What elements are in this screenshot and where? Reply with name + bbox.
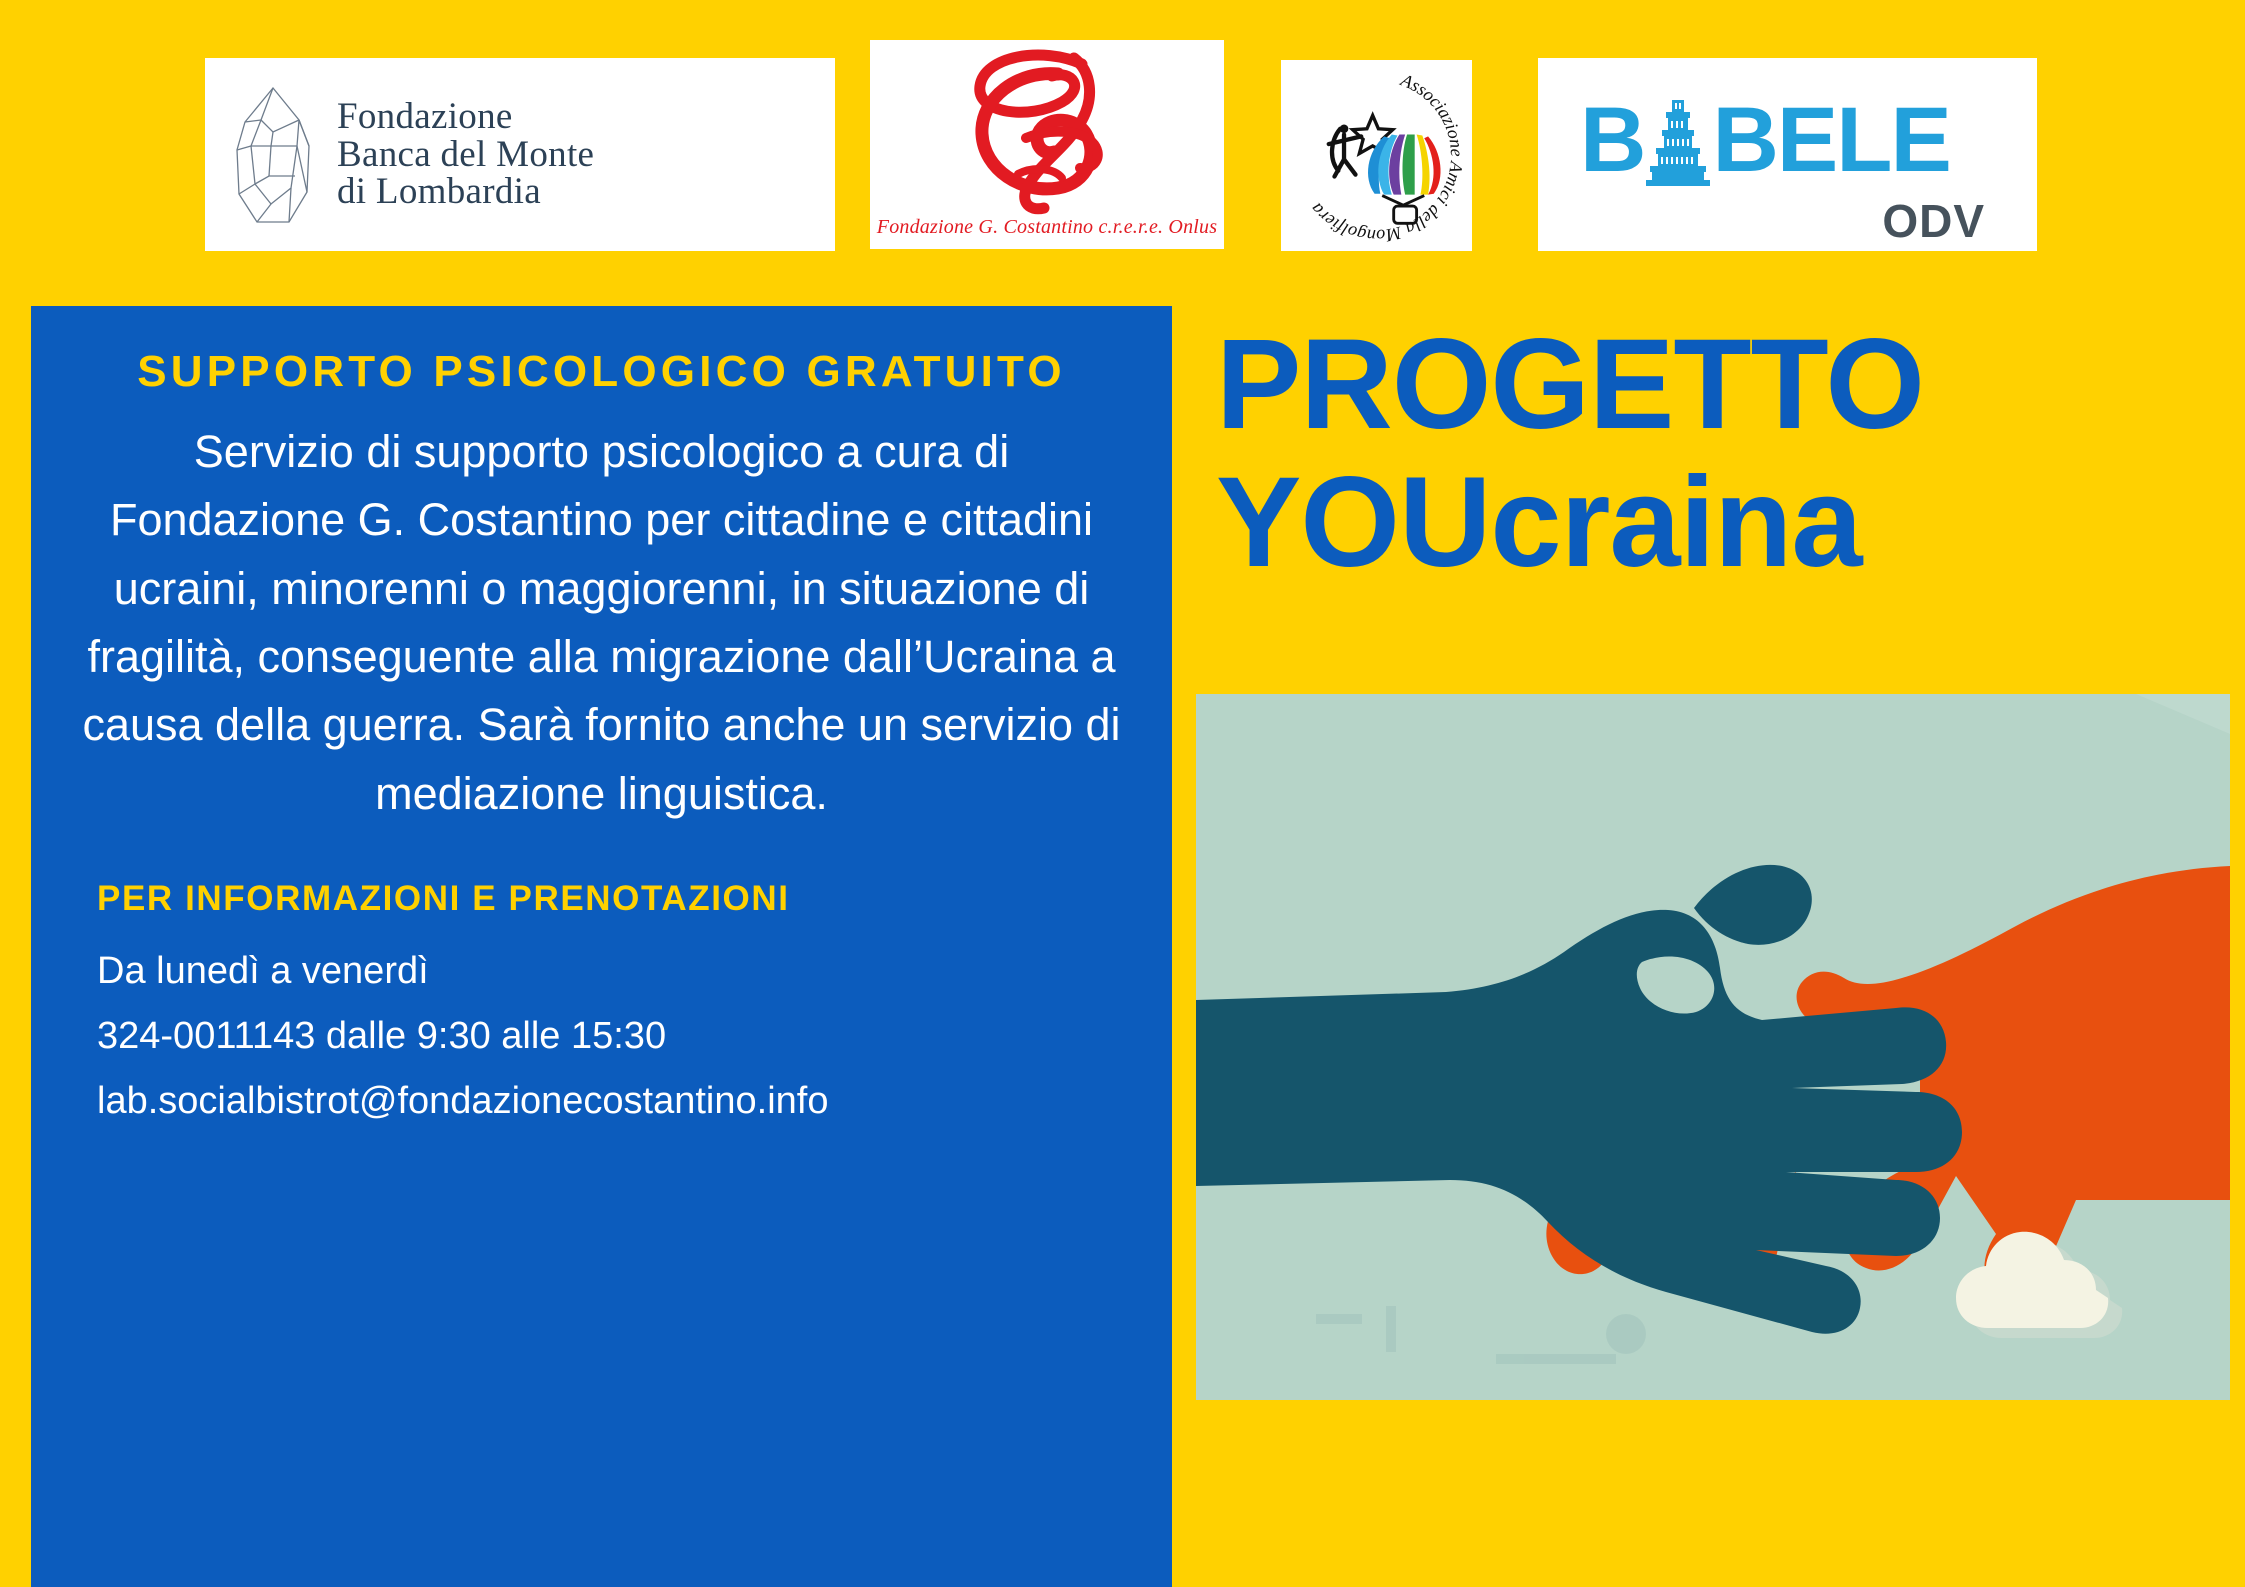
logo-babele-suffix: BELE (1712, 94, 1949, 186)
hot-air-balloon-icon: Associazione Amici della Mongolfiera (1281, 60, 1472, 251)
logo-babele-letter-b1: B (1580, 94, 1644, 186)
logo-fondazione-g-costantino: Fondazione G. Costantino c.r.e.r.e. Onlu… (870, 40, 1224, 249)
ziggurat-tower-icon (1646, 94, 1710, 186)
gc-monogram-icon (922, 42, 1172, 217)
title-line-1: PROGETTO (1216, 316, 2226, 454)
logo-bml-line1: Fondazione (337, 98, 594, 136)
info-panel: SUPPORTO PSICOLOGICO GRATUITO Servizio d… (31, 306, 1172, 1587)
contact-days: Da lunedì a venerdì (97, 939, 1146, 1004)
panel-contact-heading: PER INFORMAZIONI E PRENOTAZIONI (57, 872, 1146, 925)
logo-costantino-caption: Fondazione G. Costantino c.r.e.r.e. Onlu… (877, 216, 1217, 239)
logo-band: Fondazione Banca del Monte di Lombardia (0, 0, 2245, 270)
title-line-2: YOUcraina (1216, 454, 2226, 592)
handshake-graphic (1196, 694, 2230, 1400)
logo-babele-odv-label: ODV (1882, 198, 1985, 244)
gem-crystal-icon (227, 84, 319, 226)
poster-root: Fondazione Banca del Monte di Lombardia (0, 0, 2245, 1587)
panel-contact-block: Da lunedì a venerdì 324-0011143 dalle 9:… (57, 939, 1146, 1133)
logo-amici-della-mongolfiera: Associazione Amici della Mongolfiera (1281, 60, 1472, 251)
poster-title: PROGETTO YOUcraina (1216, 316, 2226, 592)
handshake-illustration (1196, 694, 2230, 1400)
logo-bml-line2: Banca del Monte (337, 136, 594, 174)
logo-bml-line3: di Lombardia (337, 173, 594, 211)
contact-email[interactable]: lab.socialbistrot@fondazionecostantino.i… (97, 1069, 1146, 1134)
logo-fondazione-banca-del-monte: Fondazione Banca del Monte di Lombardia (205, 58, 835, 251)
logo-babele-odv: B (1538, 58, 2037, 251)
contact-phone[interactable]: 324-0011143 dalle 9:30 alle 15:30 (97, 1004, 1146, 1069)
logo-bml-text: Fondazione Banca del Monte di Lombardia (337, 98, 594, 211)
panel-heading: SUPPORTO PSICOLOGICO GRATUITO (57, 340, 1146, 404)
panel-body-text: Servizio di supporto psicologico a cura … (57, 418, 1146, 828)
